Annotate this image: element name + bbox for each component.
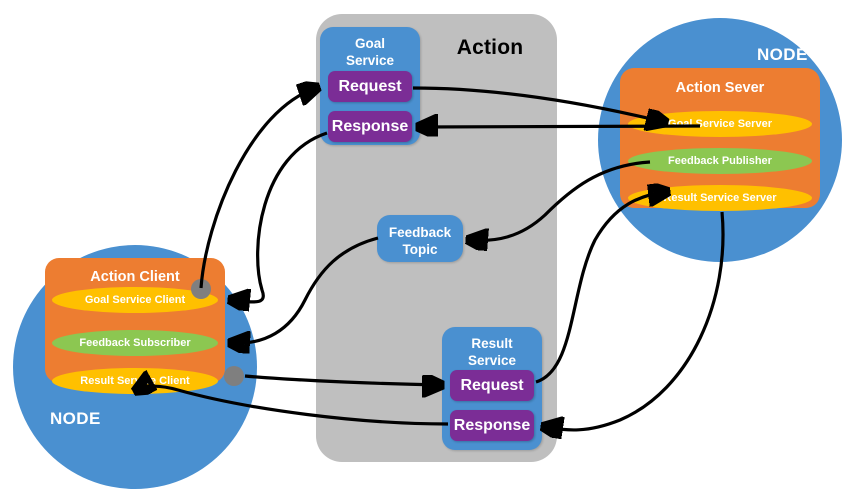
goal-service-response-pill[interactable]: Response bbox=[328, 111, 412, 142]
result-service-title-line1: Result bbox=[471, 336, 512, 351]
result-service-title-line2: Service bbox=[468, 353, 516, 368]
action-server-title: Action Sever bbox=[620, 80, 820, 96]
result-service-request-pill[interactable]: Request bbox=[450, 370, 534, 401]
result-service-server-ellipse[interactable]: Result Service Server bbox=[628, 185, 812, 211]
goal-service-server-ellipse[interactable]: Goal Service Server bbox=[628, 111, 812, 137]
feedback-topic-title-line1: Feedback bbox=[389, 225, 451, 240]
arrow-goal-client-to-request bbox=[201, 88, 316, 288]
client-node-label: NODE bbox=[50, 409, 101, 429]
diagram-canvas: Action Action Client Goal Service Client… bbox=[0, 0, 854, 480]
result-service-response-pill[interactable]: Response bbox=[450, 410, 534, 441]
action-client-box: Action Client bbox=[45, 258, 225, 383]
goal-service-title-line1: Goal bbox=[355, 36, 385, 51]
goal-service-request-pill[interactable]: Request bbox=[328, 71, 412, 102]
goal-service-title: Goal Service bbox=[320, 35, 420, 69]
action-panel-title: Action bbox=[430, 36, 550, 60]
feedback-publisher-ellipse[interactable]: Feedback Publisher bbox=[628, 148, 812, 174]
feedback-topic-title: Feedback Topic bbox=[377, 224, 463, 258]
feedback-topic-box[interactable]: Feedback Topic bbox=[377, 215, 463, 262]
server-node-label: NODE bbox=[757, 45, 808, 65]
feedback-topic-title-line2: Topic bbox=[403, 242, 438, 257]
arrow-response-to-goal-client bbox=[232, 133, 327, 302]
feedback-subscriber-ellipse[interactable]: Feedback Subscriber bbox=[52, 330, 218, 356]
result-service-client-connector-dot bbox=[224, 366, 244, 386]
result-service-title: Result Service bbox=[442, 335, 542, 369]
result-service-client-ellipse[interactable]: Result Service Client bbox=[52, 368, 218, 394]
goal-service-client-connector-dot bbox=[191, 279, 211, 299]
goal-service-title-line2: Service bbox=[346, 53, 394, 68]
